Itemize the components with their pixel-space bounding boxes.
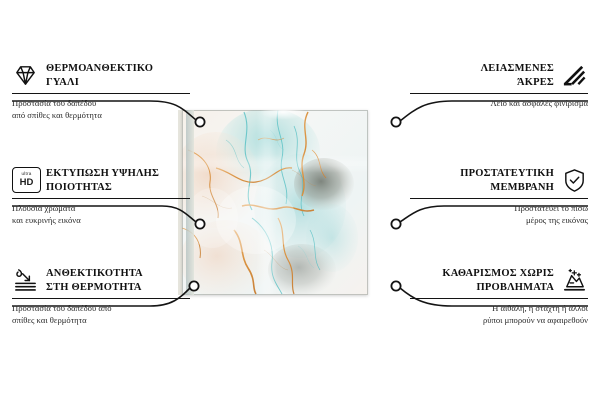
feature-high-quality-print: ultra HD ΕΚΤΥΠΩΣΗ ΥΨΗΛΗΣ ΠΟΙΟΤΗΤΑΣ Πλούσ… bbox=[12, 167, 190, 226]
feature-title-line1: ΛΕΙΑΣΜΕΝΕΣ bbox=[481, 62, 554, 76]
infographic-stage: ΘΕΡΜΟΑΝΘΕΚΤΙΚΟ ΓΥΑΛΙ Προστασία του δαπέδ… bbox=[0, 0, 600, 400]
feature-desc-line2: ρύποι μπορούν να αφαιρεθούν bbox=[410, 315, 588, 327]
diamond-icon bbox=[12, 62, 39, 89]
feature-divider bbox=[12, 93, 190, 94]
feature-divider bbox=[12, 298, 190, 299]
feature-polished-edges: ΛΕΙΑΣΜΕΝΕΣ ΆΚΡΕΣ Λείο και ασφαλές φινίρι… bbox=[410, 62, 588, 110]
glass-panel bbox=[182, 110, 368, 295]
feature-desc-line1: Προστασία του δαπέδου bbox=[12, 98, 190, 110]
feature-title: ΕΚΤΥΠΩΣΗ ΥΨΗΛΗΣ ΠΟΙΟΤΗΤΑΣ bbox=[46, 167, 159, 194]
feature-easy-cleaning: ΚΑΘΑΡΙΣΜΟΣ ΧΩΡΙΣ ΠΡΟΒΛΗΜΑΤΑ Η αιθάλη, η … bbox=[410, 267, 588, 326]
feature-header: ΚΑΘΑΡΙΣΜΟΣ ΧΩΡΙΣ ΠΡΟΒΛΗΜΑΤΑ bbox=[410, 267, 588, 294]
product-image bbox=[182, 110, 392, 295]
feature-header: ΛΕΙΑΣΜΕΝΕΣ ΆΚΡΕΣ bbox=[410, 62, 588, 89]
feature-title: ΛΕΙΑΣΜΕΝΕΣ ΆΚΡΕΣ bbox=[481, 62, 554, 89]
feature-heat-durability: ΑΝΘΕΚΤΙΚΟΤΗΤΑ ΣΤΗ ΘΕΡΜΟΤΗΤΑ Προστασία το… bbox=[12, 267, 190, 326]
feature-title-line2: ΓΥΑΛΙ bbox=[46, 76, 153, 90]
feature-title-line2: ΜΕΜΒΡΑΝΗ bbox=[460, 181, 554, 195]
feature-desc-line1: Λείο και ασφαλές φινίρισμα bbox=[410, 98, 588, 110]
feature-title-line1: ΑΝΘΕΚΤΙΚΟΤΗΤΑ bbox=[46, 267, 143, 281]
feature-desc-line2: και ευκρινής εικόνα bbox=[12, 215, 190, 227]
feature-title-line2: ΆΚΡΕΣ bbox=[481, 76, 554, 90]
abstract-marble-artwork bbox=[182, 110, 368, 295]
feature-title-line1: ΠΡΟΣΤΑΤΕΥΤΙΚΗ bbox=[460, 167, 554, 181]
feature-divider bbox=[410, 93, 588, 94]
connector-marker bbox=[391, 219, 400, 228]
shield-check-icon bbox=[561, 167, 588, 194]
feature-title-line1: ΘΕΡΜΟΑΝΘΕΚΤΙΚΟ bbox=[46, 62, 153, 76]
feature-description: Προστασία του δαπέδου από σπίθες και θερ… bbox=[12, 98, 190, 121]
sparkle-wipe-icon bbox=[561, 267, 588, 294]
feature-desc-line2: από σπίθες και θερμότητα bbox=[12, 110, 190, 122]
feature-title: ΚΑΘΑΡΙΣΜΟΣ ΧΩΡΙΣ ΠΡΟΒΛΗΜΑΤΑ bbox=[442, 267, 554, 294]
feature-desc-line1: Πλούσια χρώματα bbox=[12, 203, 190, 215]
feature-description: Λείο και ασφαλές φινίρισμα bbox=[410, 98, 588, 110]
feature-title-line2: ΣΤΗ ΘΕΡΜΟΤΗΤΑ bbox=[46, 281, 143, 295]
feature-description: Πλούσια χρώματα και ευκρινής εικόνα bbox=[12, 203, 190, 226]
feature-title-line2: ΠΡΟΒΛΗΜΑΤΑ bbox=[442, 281, 554, 295]
feature-title: ΠΡΟΣΤΑΤΕΥΤΙΚΗ ΜΕΜΒΡΑΝΗ bbox=[460, 167, 554, 194]
feature-header: ΑΝΘΕΚΤΙΚΟΤΗΤΑ ΣΤΗ ΘΕΡΜΟΤΗΤΑ bbox=[12, 267, 190, 294]
feature-title: ΑΝΘΕΚΤΙΚΟΤΗΤΑ ΣΤΗ ΘΕΡΜΟΤΗΤΑ bbox=[46, 267, 143, 294]
feature-desc-line1: Προστατεύει το πίσω bbox=[410, 203, 588, 215]
connector-marker bbox=[391, 281, 400, 290]
feature-title-line1: ΕΚΤΥΠΩΣΗ ΥΨΗΛΗΣ bbox=[46, 167, 159, 181]
diagonal-stripes-icon bbox=[561, 62, 588, 89]
flame-deflect-icon bbox=[12, 267, 39, 294]
feature-heat-resistant-glass: ΘΕΡΜΟΑΝΘΕΚΤΙΚΟ ΓΥΑΛΙ Προστασία του δαπέδ… bbox=[12, 62, 190, 121]
feature-desc-line1: Προστασία του δαπέδου από bbox=[12, 303, 190, 315]
connector-marker bbox=[391, 117, 400, 126]
feature-desc-line2: μέρος της εικόνας bbox=[410, 215, 588, 227]
feature-desc-line1: Η αιθάλη, η στάχτη ή άλλοι bbox=[410, 303, 588, 315]
feature-desc-line2: σπίθες και θερμότητα bbox=[12, 315, 190, 327]
feature-header: ultra HD ΕΚΤΥΠΩΣΗ ΥΨΗΛΗΣ ΠΟΙΟΤΗΤΑΣ bbox=[12, 167, 190, 194]
feature-description: Προστασία του δαπέδου από σπίθες και θερ… bbox=[12, 303, 190, 326]
feature-description: Η αιθάλη, η στάχτη ή άλλοι ρύποι μπορούν… bbox=[410, 303, 588, 326]
ultra-hd-icon: ultra HD bbox=[12, 167, 39, 194]
feature-divider bbox=[12, 198, 190, 199]
feature-title: ΘΕΡΜΟΑΝΘΕΚΤΙΚΟ ΓΥΑΛΙ bbox=[46, 62, 153, 89]
ultra-hd-large-label: HD bbox=[20, 178, 34, 188]
feature-protective-membrane: ΠΡΟΣΤΑΤΕΥΤΙΚΗ ΜΕΜΒΡΑΝΗ Προστατεύει το πί… bbox=[410, 167, 588, 226]
feature-divider bbox=[410, 198, 588, 199]
feature-title-line2: ΠΟΙΟΤΗΤΑΣ bbox=[46, 181, 159, 195]
feature-description: Προστατεύει το πίσω μέρος της εικόνας bbox=[410, 203, 588, 226]
feature-header: ΠΡΟΣΤΑΤΕΥΤΙΚΗ ΜΕΜΒΡΑΝΗ bbox=[410, 167, 588, 194]
feature-title-line1: ΚΑΘΑΡΙΣΜΟΣ ΧΩΡΙΣ bbox=[442, 267, 554, 281]
feature-header: ΘΕΡΜΟΑΝΘΕΚΤΙΚΟ ΓΥΑΛΙ bbox=[12, 62, 190, 89]
feature-divider bbox=[410, 298, 588, 299]
